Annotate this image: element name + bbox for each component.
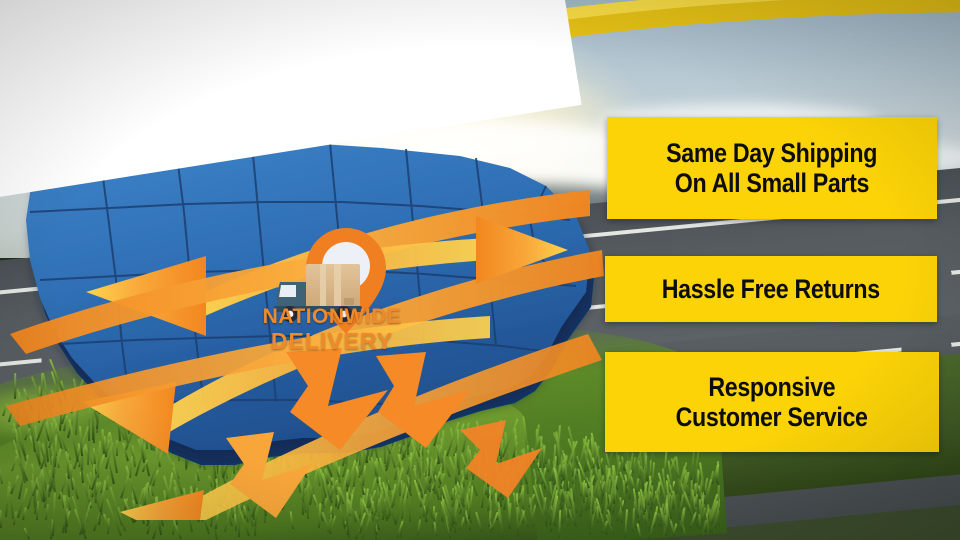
grass-blade-icon bbox=[433, 522, 436, 536]
grass-blade-icon bbox=[636, 524, 642, 540]
nationwide-delivery-headline: NATIONWIDE DELIVERY bbox=[252, 306, 412, 353]
callout-responsive-customer-service[interactable]: Responsive Customer Service bbox=[605, 352, 939, 452]
headline-line-2: DELIVERY bbox=[252, 330, 412, 353]
grass-blade-icon bbox=[716, 465, 718, 483]
callout-same-day-shipping[interactable]: Same Day Shipping On All Small Parts bbox=[607, 117, 937, 219]
promo-banner: NATIONWIDE DELIVERY Seymour AUTO Same Da… bbox=[0, 0, 960, 540]
grass-blade-icon bbox=[24, 527, 30, 539]
headline-line-1: NATIONWIDE bbox=[252, 306, 412, 327]
callout-line: Customer Service bbox=[676, 402, 868, 432]
callout-line: Same Day Shipping bbox=[667, 138, 878, 168]
callout-line: Hassle Free Returns bbox=[662, 274, 880, 304]
callout-line: On All Small Parts bbox=[675, 168, 869, 198]
callout-hassle-free-returns[interactable]: Hassle Free Returns bbox=[605, 256, 937, 322]
grass-blade-icon bbox=[635, 478, 639, 492]
callout-line: Responsive bbox=[709, 372, 836, 402]
grass-blade-icon bbox=[695, 494, 698, 507]
grass-blade-icon bbox=[107, 518, 110, 535]
grass-blade-icon bbox=[665, 503, 668, 536]
